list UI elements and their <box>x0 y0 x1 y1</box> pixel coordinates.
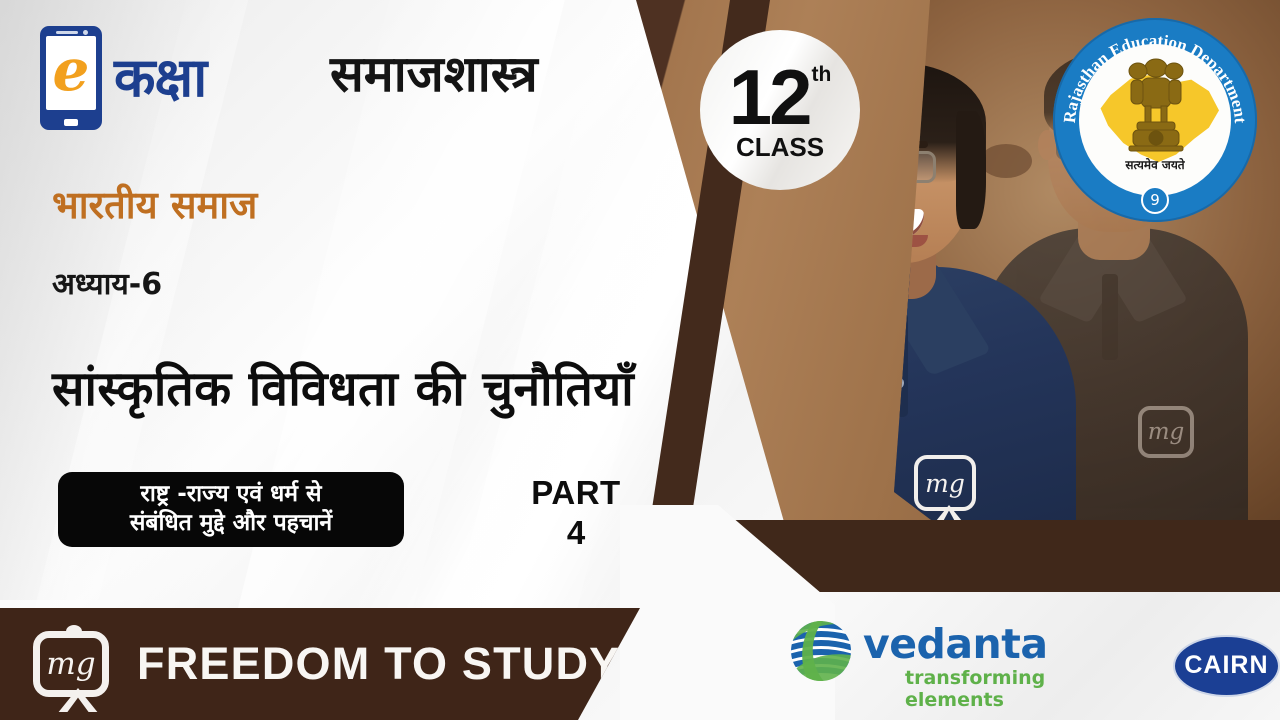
phone-icon: e <box>40 26 102 130</box>
class-badge: 12 th CLASS <box>700 30 860 190</box>
thumbnail-canvas: mg mg 12 th CLASS <box>0 0 1280 720</box>
emblem-motto: सत्यमेव जयते <box>1079 156 1231 173</box>
ashoka-lion-capital-icon <box>1119 54 1193 158</box>
sponsor-logos: vedanta transforming elements CAIRN <box>790 620 1280 711</box>
page-title: सांस्कृतिक विविधता की चुनौतियाँ <box>52 355 634 420</box>
ekaksha-logo[interactable]: e कक्षा <box>40 26 206 130</box>
bottom-bar: mg FREEDOM TO STUDY <box>0 608 700 720</box>
topic-badge: राष्ट्र -राज्य एवं धर्म से संबंधित मुद्द… <box>58 472 404 547</box>
book-title: भारतीय समाज <box>52 178 257 230</box>
emblem-inner-disc: सत्यमेव जयते <box>1079 44 1231 196</box>
logo-letter-e: e <box>53 41 90 99</box>
class-number: 12 <box>729 58 810 136</box>
cairn-name: CAIRN <box>1184 651 1268 680</box>
vedanta-logo: vedanta transforming elements <box>790 620 1095 711</box>
part-label: PART <box>516 474 636 512</box>
man-shirt-mg-logo: mg <box>1138 406 1194 458</box>
part-number: 4 <box>516 514 636 552</box>
rajasthan-education-department-emblem: Rajasthan Education Department <box>1053 18 1257 222</box>
subject-title: समाजशास्त्र <box>330 38 538 106</box>
woman-shirt-mg-logo: mg <box>914 455 976 511</box>
vedanta-globe-icon <box>790 620 852 682</box>
part-indicator: PART 4 <box>516 474 636 552</box>
vedanta-name: vedanta <box>863 624 1095 665</box>
logo-wordmark: कक्षा <box>114 51 206 105</box>
class-word: CLASS <box>736 132 824 163</box>
topic-line-2: संबंधित मुद्दे और पहचानें <box>70 509 392 538</box>
vedanta-wordmark: vedanta transforming elements <box>863 624 1095 711</box>
mg-easel-logo: mg <box>33 631 109 697</box>
tagline: FREEDOM TO STUDY <box>137 638 620 690</box>
chapter-label: अध्याय-6 <box>52 262 162 303</box>
vedanta-tagline: transforming elements <box>905 667 1095 711</box>
cairn-logo: CAIRN <box>1173 635 1280 697</box>
class-ordinal-suffix: th <box>811 64 831 85</box>
emblem-bottom-mark: 9 <box>1141 186 1169 214</box>
class-number-row: 12 th <box>729 58 832 136</box>
topic-line-1: राष्ट्र -राज्य एवं धर्म से <box>70 480 392 509</box>
